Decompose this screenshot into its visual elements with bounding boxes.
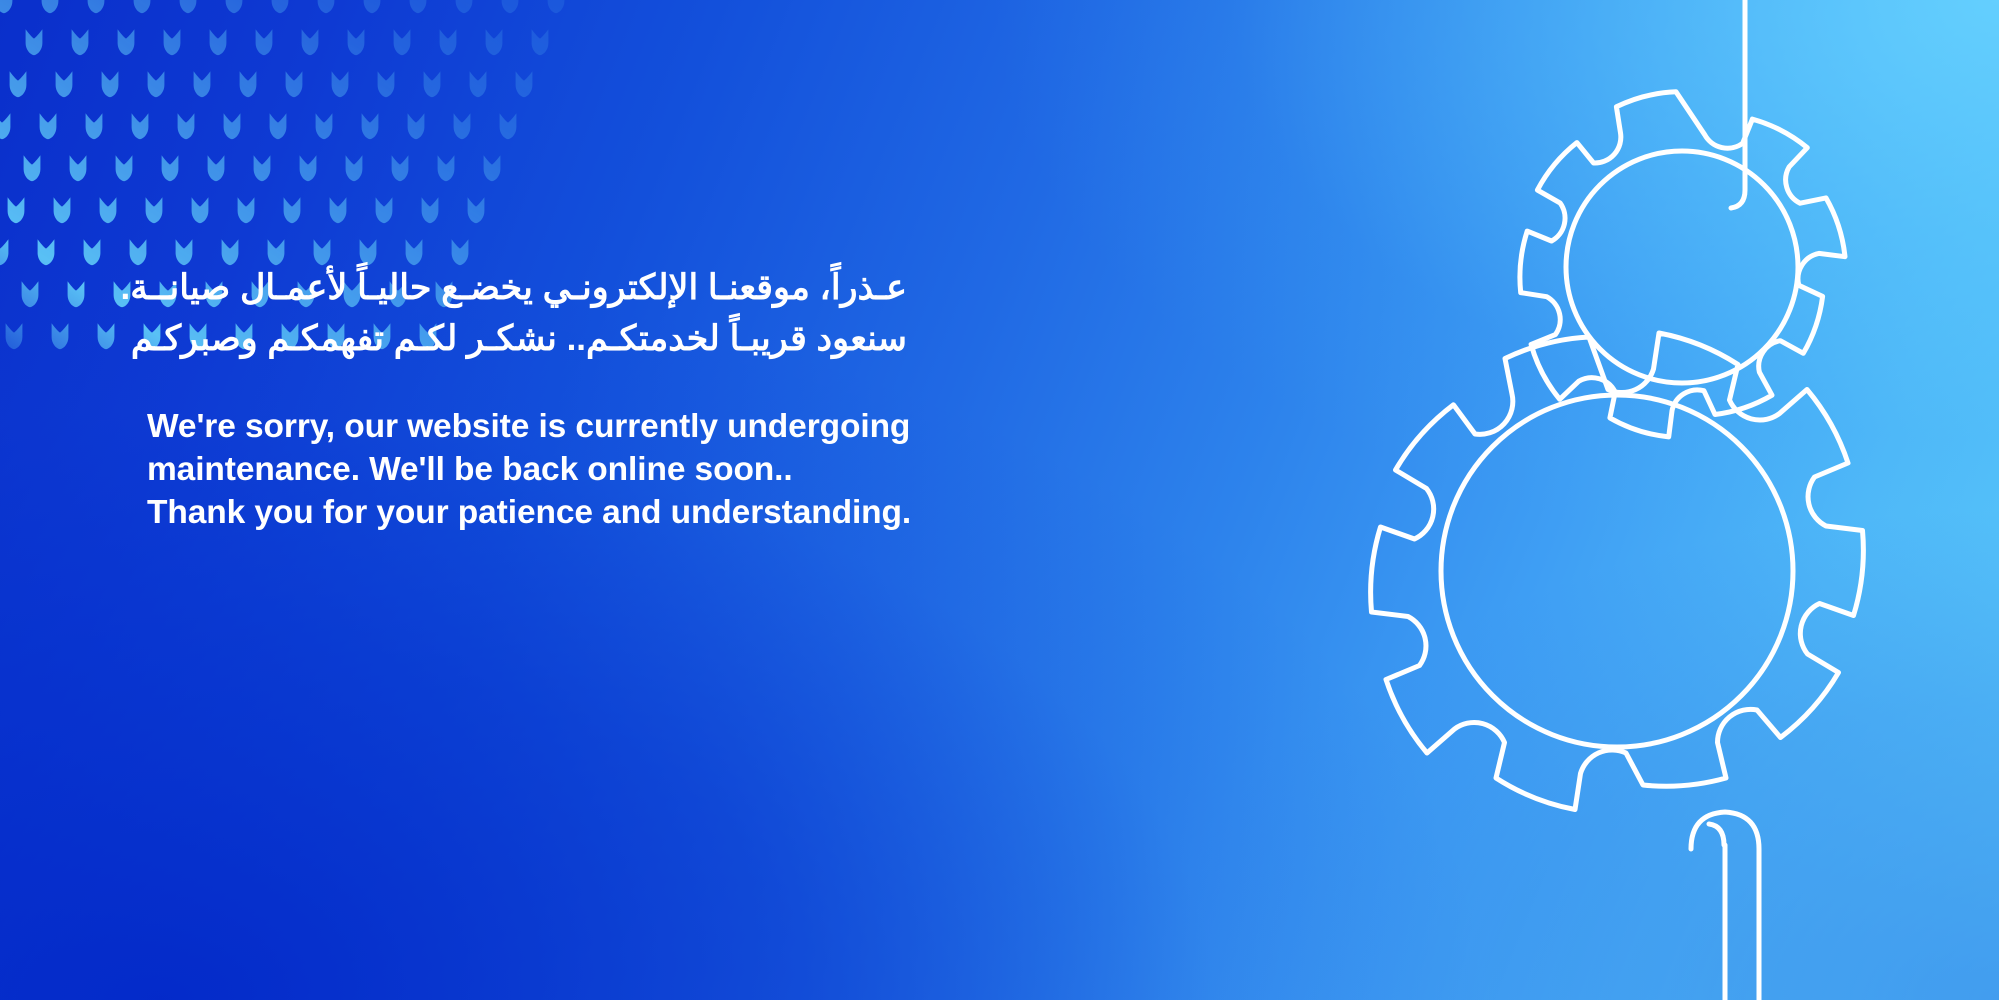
arabic-line-1: عـذراً، موقعنـا الإلكترونـي يخضـع حاليـا…: [147, 262, 907, 313]
english-message: We're sorry, our website is currently un…: [147, 406, 907, 535]
maintenance-page: عـذراً، موقعنـا الإلكترونـي يخضـع حاليـا…: [0, 0, 1999, 1000]
arabic-line-2: سنعود قريبـاً لخدمتكـم.. نشكـر لكـم تفهم…: [147, 313, 907, 364]
arabic-message: عـذراً، موقعنـا الإلكترونـي يخضـع حاليـا…: [147, 262, 907, 364]
gear-illustration: [1179, 0, 1999, 1000]
english-line-3: Thank you for your patience and understa…: [147, 492, 907, 535]
large-gear-hub: [1441, 395, 1793, 747]
english-line-2: maintenance. We'll be back online soon..: [147, 449, 907, 492]
large-gear: [1371, 333, 1864, 810]
message-block: عـذراً، موقعنـا الإلكترونـي يخضـع حاليـا…: [147, 262, 907, 535]
top-shaft-line: [1731, 0, 1745, 208]
english-line-1: We're sorry, our website is currently un…: [147, 406, 907, 449]
bottom-shaft-line: [1709, 824, 1725, 1000]
small-gear: [1520, 92, 1845, 437]
small-gear-hub: [1566, 151, 1798, 383]
